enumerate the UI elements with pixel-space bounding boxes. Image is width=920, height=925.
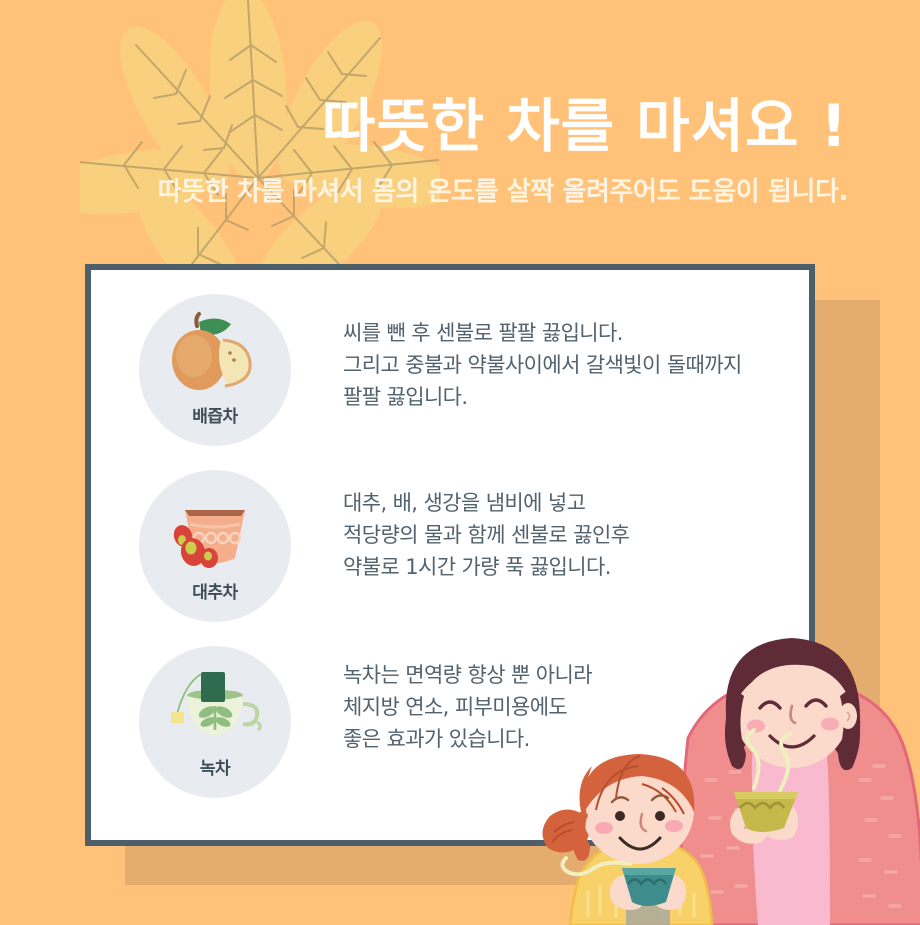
green-tea-cup-icon bbox=[161, 660, 269, 752]
header: 따뜻한 차를 마셔요 ! 따뜻한 차를 마셔서 몸의 온도를 살짝 올려주어도 … bbox=[0, 96, 920, 208]
page-title: 따뜻한 차를 마셔요 ! bbox=[0, 96, 848, 157]
tea-row[interactable]: 녹차 녹차는 면역량 향상 뿐 아니라 체지방 연소, 피부미용에도 좋은 효과… bbox=[91, 646, 809, 822]
tea-icon-label: 배즙차 bbox=[192, 402, 237, 427]
tea-list-card: 배즙차 씨를 뺀 후 센불로 팔팔 끓입니다. 그리고 중불과 약불사이에서 갈… bbox=[85, 264, 815, 846]
jujube-bowl-icon bbox=[161, 484, 269, 576]
tea-icon-bubble[interactable]: 배즙차 bbox=[139, 294, 291, 446]
tea-description: 녹차는 면역량 향상 뿐 아니라 체지방 연소, 피부미용에도 좋은 효과가 있… bbox=[291, 646, 809, 756]
tea-row[interactable]: 배즙차 씨를 뺀 후 센불로 팔팔 끓입니다. 그리고 중불과 약불사이에서 갈… bbox=[91, 294, 809, 470]
tea-icon-label: 녹차 bbox=[200, 754, 230, 779]
pear-icon bbox=[161, 308, 269, 400]
page-subtitle: 따뜻한 차를 마셔서 몸의 온도를 살짝 올려주어도 도움이 됩니다. bbox=[0, 171, 848, 208]
tea-icon-bubble[interactable]: 녹차 bbox=[139, 646, 291, 798]
tea-row[interactable]: 대추차 대추, 배, 생강을 냄비에 넣고 적당량의 물과 함께 센불로 끓인후… bbox=[91, 470, 809, 646]
tea-description: 씨를 뺀 후 센불로 팔팔 끓입니다. 그리고 중불과 약불사이에서 갈색빛이 … bbox=[291, 294, 809, 414]
tea-icon-bubble[interactable]: 대추차 bbox=[139, 470, 291, 622]
poster-canvas: 따뜻한 차를 마셔요 ! 따뜻한 차를 마셔서 몸의 온도를 살짝 올려주어도 … bbox=[0, 0, 920, 920]
tea-icon-label: 대추차 bbox=[192, 578, 237, 603]
tea-row-list: 배즙차 씨를 뺀 후 센불로 팔팔 끓입니다. 그리고 중불과 약불사이에서 갈… bbox=[91, 270, 809, 840]
tea-description: 대추, 배, 생강을 냄비에 넣고 적당량의 물과 함께 센불로 끓인후 약불로… bbox=[291, 470, 809, 584]
